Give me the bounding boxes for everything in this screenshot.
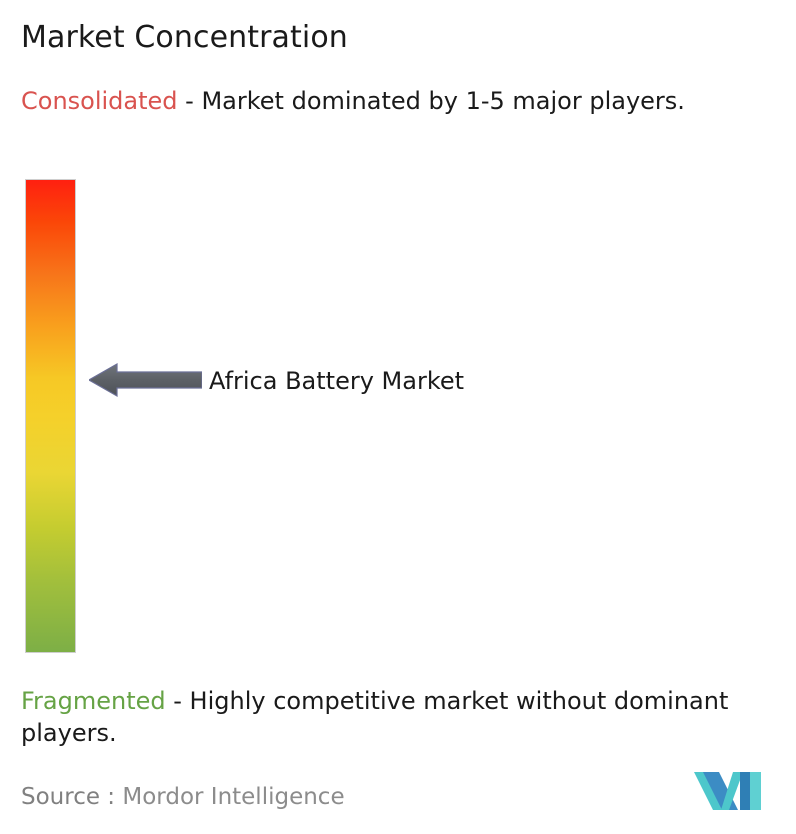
- legend-description-consolidated: - Market dominated by 1-5 major players.: [178, 87, 685, 115]
- source-value: Mordor Intelligence: [122, 784, 344, 810]
- market-pointer-label: Africa Battery Market: [209, 366, 464, 396]
- source-attribution: Source : Mordor Intelligence: [21, 782, 345, 812]
- source-label: Source :: [21, 784, 115, 810]
- legend-consolidated: Consolidated - Market dominated by 1-5 m…: [21, 85, 777, 117]
- legend-keyword-consolidated: Consolidated: [21, 87, 178, 115]
- page-title: Market Concentration: [21, 19, 348, 57]
- legend-fragmented: Fragmented - Highly competitive market w…: [21, 685, 789, 749]
- market-concentration-infographic: Market Concentration Consolidated - Mark…: [0, 0, 796, 834]
- mordor-intelligence-logo-icon: [694, 766, 762, 816]
- legend-keyword-fragmented: Fragmented: [21, 687, 166, 715]
- left-arrow-icon: [89, 362, 202, 398]
- concentration-gradient-scale: [26, 180, 75, 652]
